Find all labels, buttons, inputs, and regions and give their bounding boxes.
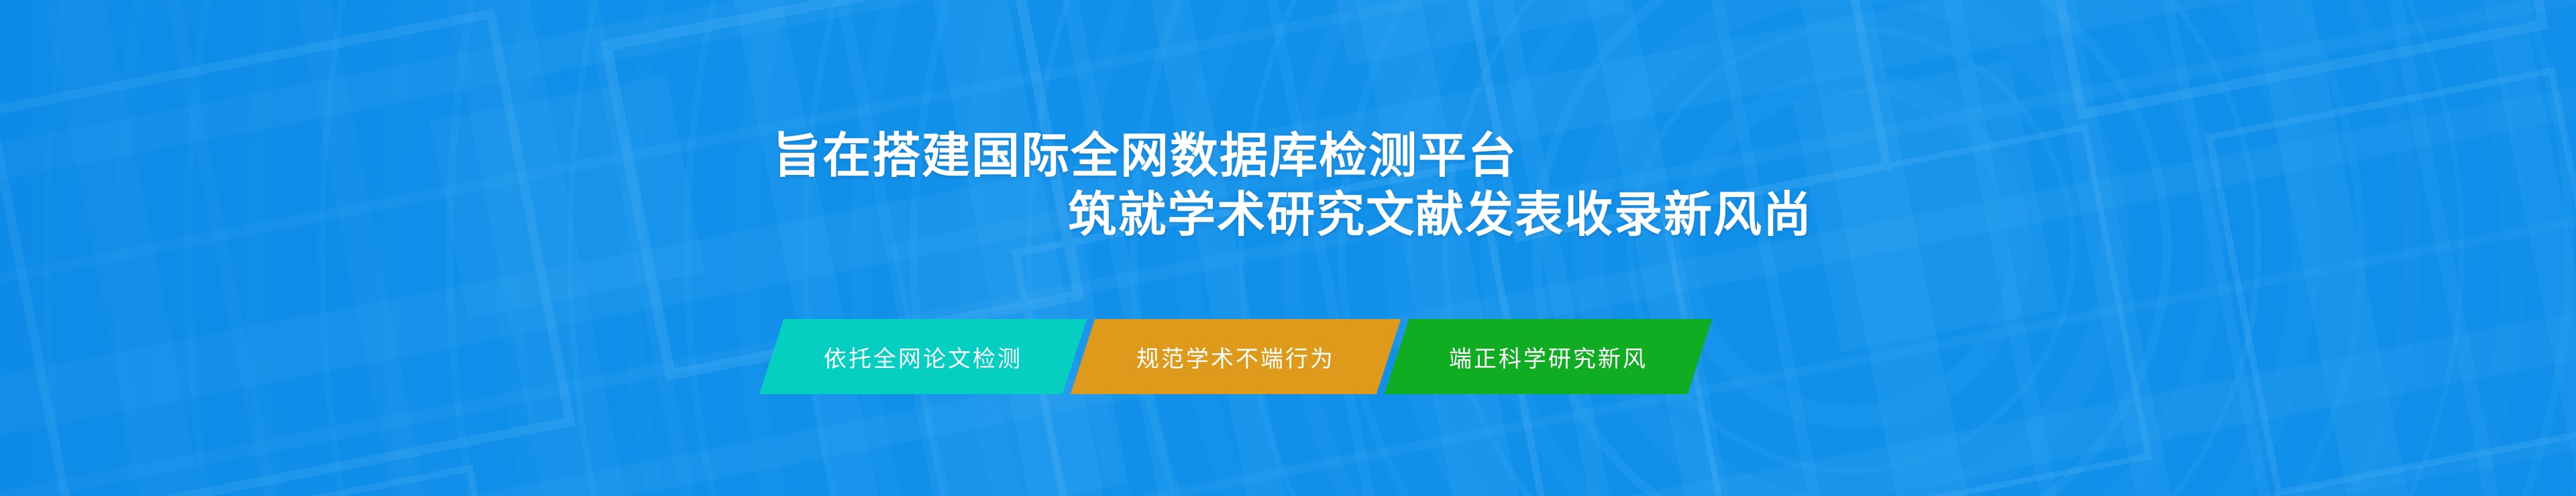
tag-paper-detection[interactable]: 依托全网论文检测 [759,319,1087,394]
feature-tag-row: 依托全网论文检测 规范学术不端行为 端正科学研究新风 [771,319,1700,394]
promo-banner: 旨在搭建国际全网数据库检测平台 筑就学术研究文献发表收录新风尚 依托全网论文检测… [0,0,2576,496]
tag-paper-detection-label: 依托全网论文检测 [824,340,1022,373]
tag-academic-misconduct-label: 规范学术不端行为 [1136,340,1335,373]
tag-research-ethos[interactable]: 端正科学研究新风 [1385,319,1712,394]
banner-content: 旨在搭建国际全网数据库检测平台 筑就学术研究文献发表收录新风尚 依托全网论文检测… [0,0,2576,496]
headline-line-1: 旨在搭建国际全网数据库检测平台 [0,127,2576,186]
tag-academic-misconduct[interactable]: 规范学术不端行为 [1071,319,1401,394]
tag-research-ethos-label: 端正科学研究新风 [1449,340,1648,373]
headline-block: 旨在搭建国际全网数据库检测平台 筑就学术研究文献发表收录新风尚 [0,127,2576,245]
headline-line-2: 筑就学术研究文献发表收录新风尚 [0,186,2576,245]
